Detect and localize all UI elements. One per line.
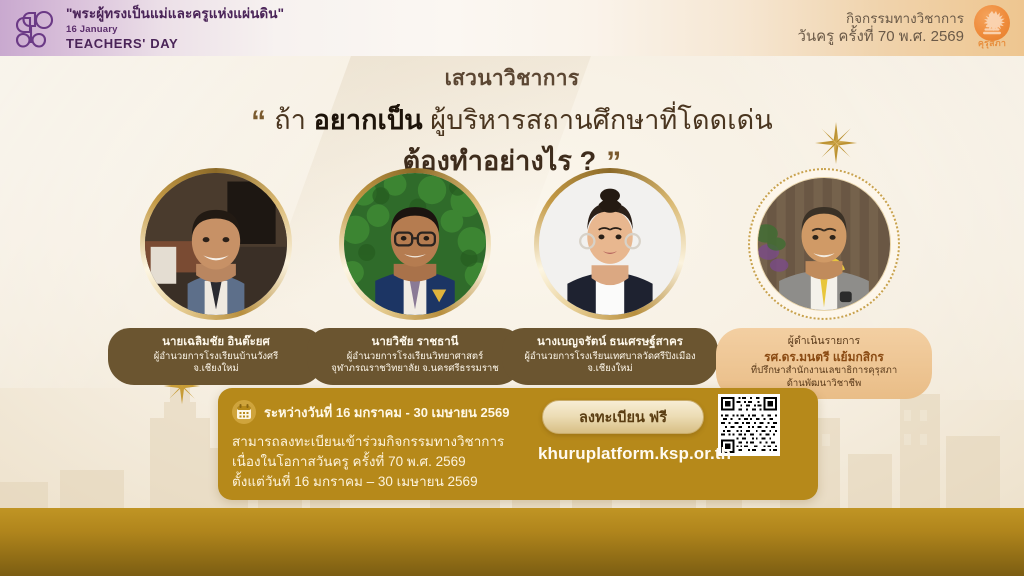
speaker-sub1-1: ผู้อำนวยการโรงเรียนบ้านวังศรี xyxy=(116,351,316,364)
calendar-icon xyxy=(232,400,256,424)
ksp-seal-icon: คุรุสภา xyxy=(970,5,1014,51)
moderator-name: รศ.ดร.มนตรี แย้มกสิกร xyxy=(724,349,924,365)
info-body-line1: สามารถลงทะเบียนเข้าร่วมกิจกรรมทางวิชาการ xyxy=(232,432,534,452)
quote-open-icon: “ xyxy=(251,105,266,138)
header-title-en: TEACHERS' DAY xyxy=(66,36,284,51)
speaker-caption-2: นายวิชัย ราชธานี ผู้อำนวยการโรงเรียนวิทย… xyxy=(307,328,523,385)
speaker-photo-1 xyxy=(140,168,292,320)
register-button[interactable]: ลงทะเบียน ฟรี xyxy=(542,400,704,434)
speaker-sub1-2: ผู้อำนวยการโรงเรียนวิทยาศาสตร์ xyxy=(315,351,515,364)
info-body-line2: เนื่องในโอกาสวันครู ครั้งที่ 70 พ.ศ. 256… xyxy=(232,452,534,472)
title-kicker: เสวนาวิชาการ xyxy=(0,62,1024,95)
header-thai-quote: "พระผู้ทรงเป็นแม่และครูแห่งแผ่นดิน" xyxy=(66,6,284,22)
info-body-line3: ตั้งแต่วันที่ 16 มกราคม – 30 เมษายน 2569 xyxy=(232,472,534,492)
date-range-row: ระหว่างวันที่ 16 มกราคม - 30 เมษายน 2569 xyxy=(232,400,534,424)
title-block: เสวนาวิชาการ “ถ้า อยากเป็น ผู้บริหารสถาน… xyxy=(0,62,1024,184)
speaker-sub2-3: จ.เชียงใหม่ xyxy=(510,363,710,376)
info-left-column: ระหว่างวันที่ 16 มกราคม - 30 เมษายน 2569… xyxy=(218,388,534,500)
speakers-row: นายเฉลิมชัย อินต๊ะยศ ผู้อำนวยการโรงเรียน… xyxy=(0,168,1024,384)
header-right-group: กิจกรรมทางวิชาการ วันครู ครั้งที่ 70 พ.ศ… xyxy=(797,5,1014,51)
footer-band xyxy=(0,508,1024,576)
speaker-name-1: นายเฉลิมชัย อินต๊ะยศ xyxy=(116,335,316,351)
date-range-label: ระหว่างวันที่ 16 มกราคม - 30 เมษายน 2569 xyxy=(264,402,509,423)
speaker-photo-2 xyxy=(339,168,491,320)
title-line1-a: ถ้า xyxy=(274,105,306,135)
poster-canvas: "พระผู้ทรงเป็นแม่และครูแห่งแผ่นดิน" 16 J… xyxy=(0,0,1024,576)
info-body: สามารถลงทะเบียนเข้าร่วมกิจกรรมทางวิชาการ… xyxy=(232,432,534,492)
speaker-card-2: นายวิชัย ราชธานี ผู้อำนวยการโรงเรียนวิทย… xyxy=(307,168,523,385)
speaker-sub2-1: จ.เชียงใหม่ xyxy=(116,363,316,376)
title-line1-b: อยากเป็น xyxy=(314,105,423,135)
header-date-en: 16 January xyxy=(66,24,284,35)
moderator-photo xyxy=(748,168,900,320)
speaker-sub1-3: ผู้อำนวยการโรงเรียนเทศบาลวัดศรีปิงเมือง xyxy=(510,351,710,364)
registration-url[interactable]: khuruplatform.ksp.or.th xyxy=(538,444,822,464)
speaker-card-1: นายเฉลิมชัย อินต๊ะยศ ผู้อำนวยการโรงเรียน… xyxy=(108,168,324,385)
moderator-role: ผู้ดำเนินรายการ xyxy=(724,335,924,349)
speaker-caption-1: นายเฉลิมชัย อินต๊ะยศ ผู้อำนวยการโรงเรียน… xyxy=(108,328,324,385)
registration-info-panel: ระหว่างวันที่ 16 มกราคม - 30 เมษายน 2569… xyxy=(218,388,818,500)
info-right-column: ลงทะเบียน ฟรี xyxy=(534,388,818,500)
speaker-card-3: นางเบญจรัตน์ ธนเศรษฐ์สาคร ผู้อำนวยการโรง… xyxy=(502,168,718,385)
speaker-name-3: นางเบญจรัตน์ ธนเศรษฐ์สาคร xyxy=(510,335,710,351)
speaker-sub2-2: จุฬาภรณราชวิทยาลัย จ.นครศรีธรรมราช xyxy=(315,363,515,376)
speaker-name-2: นายวิชัย ราชธานี xyxy=(315,335,515,351)
moderator-sub1: ที่ปรึกษาสำนักงานเลขาธิการคุรุสภา xyxy=(724,365,924,378)
orchid-logo xyxy=(14,4,58,50)
header-event-label: วันครู ครั้งที่ 70 พ.ศ. 2569 xyxy=(797,27,964,46)
ksp-word-label: คุรุสภา xyxy=(970,36,1014,50)
moderator-card: ผู้ดำเนินรายการ รศ.ดร.มนตรี แย้มกสิกร ที… xyxy=(716,168,932,399)
title-line1-c: ผู้บริหารสถานศึกษาที่โดดเด่น xyxy=(430,105,773,135)
header-activity-label: กิจกรรมทางวิชาการ xyxy=(797,10,964,27)
header-left-group: "พระผู้ทรงเป็นแม่และครูแห่งแผ่นดิน" 16 J… xyxy=(14,4,284,51)
speaker-photo-3 xyxy=(534,168,686,320)
speaker-caption-3: นางเบญจรัตน์ ธนเศรษฐ์สาคร ผู้อำนวยการโรง… xyxy=(502,328,718,385)
header-bar: "พระผู้ทรงเป็นแม่และครูแห่งแผ่นดิน" 16 J… xyxy=(0,0,1024,56)
